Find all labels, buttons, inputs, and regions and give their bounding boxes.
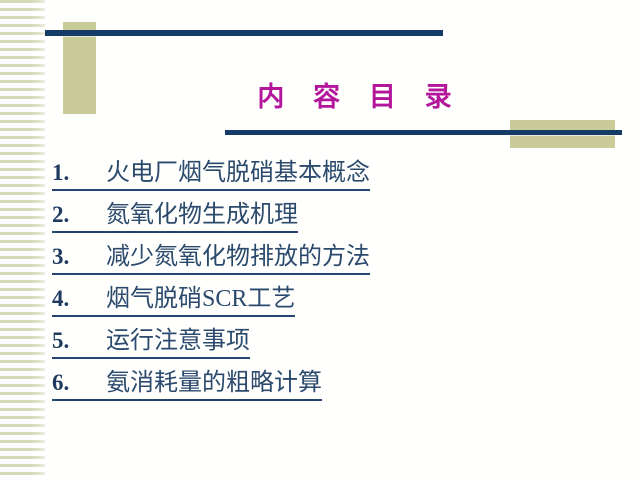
left-stripe-decoration xyxy=(0,0,45,480)
table-of-contents-list: 1. 火电厂烟气脱硝基本概念 2. 氮氧化物生成机理 3. 减少氮氧化物排放的方… xyxy=(52,158,592,410)
navy-rule-top xyxy=(45,30,443,36)
toc-number: 1. xyxy=(52,158,106,188)
toc-number: 3. xyxy=(52,242,106,272)
toc-number: 4. xyxy=(52,284,106,314)
toc-entry-1[interactable]: 1. 火电厂烟气脱硝基本概念 xyxy=(52,158,370,191)
list-item[interactable]: 5. 运行注意事项 xyxy=(52,326,592,368)
toc-label: 氮氧化物生成机理 xyxy=(106,200,298,230)
toc-entry-3[interactable]: 3. 减少氮氧化物排放的方法 xyxy=(52,242,370,275)
toc-label: 氨消耗量的粗略计算 xyxy=(106,368,322,398)
list-item[interactable]: 3. 减少氮氧化物排放的方法 xyxy=(52,242,592,284)
toc-entry-6[interactable]: 6. 氨消耗量的粗略计算 xyxy=(52,368,322,401)
toc-label: 减少氮氧化物排放的方法 xyxy=(106,242,370,272)
list-item[interactable]: 1. 火电厂烟气脱硝基本概念 xyxy=(52,158,592,200)
list-item[interactable]: 6. 氨消耗量的粗略计算 xyxy=(52,368,592,410)
slide-title: 内 容 目 录 xyxy=(200,80,520,114)
navy-rule-under-title xyxy=(225,130,622,135)
toc-number: 6. xyxy=(52,368,106,398)
list-item[interactable]: 2. 氮氧化物生成机理 xyxy=(52,200,592,242)
list-item[interactable]: 4. 烟气脱硝SCR工艺 xyxy=(52,284,592,326)
toc-entry-4[interactable]: 4. 烟气脱硝SCR工艺 xyxy=(52,284,295,317)
toc-label: 烟气脱硝SCR工艺 xyxy=(106,284,295,314)
toc-number: 5. xyxy=(52,326,106,356)
toc-number: 2. xyxy=(52,200,106,230)
toc-entry-5[interactable]: 5. 运行注意事项 xyxy=(52,326,250,359)
toc-entry-2[interactable]: 2. 氮氧化物生成机理 xyxy=(52,200,298,233)
toc-label: 火电厂烟气脱硝基本概念 xyxy=(106,158,370,188)
toc-label: 运行注意事项 xyxy=(106,326,250,356)
presentation-slide: 内 容 目 录 1. 火电厂烟气脱硝基本概念 2. 氮氧化物生成机理 3. 减少… xyxy=(0,0,640,480)
